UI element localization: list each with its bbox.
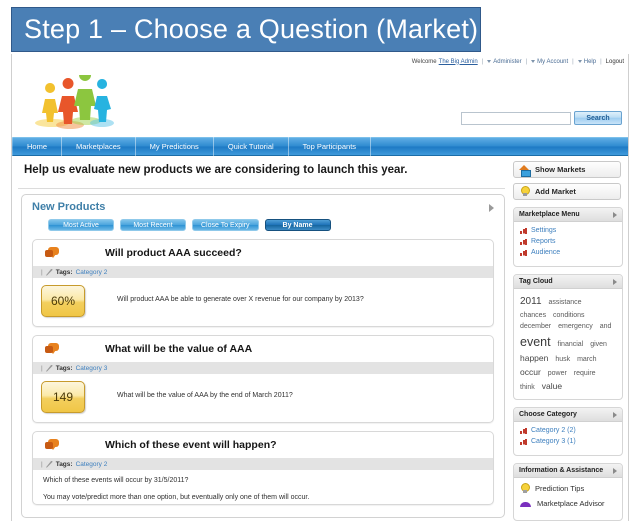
chevron-right-icon: [613, 212, 617, 218]
main-navigation: Home Marketplaces My Predictions Quick T…: [12, 137, 629, 156]
bars-icon: [520, 439, 527, 445]
question-tags-bar: | Tags: Category 2: [33, 266, 493, 278]
chevron-down-icon: [531, 60, 535, 63]
screenshot-root: Step 1 – Choose a Question (Market) Welc…: [0, 0, 640, 521]
new-products-panel: New Products Most Active Most Recent Clo…: [21, 194, 505, 518]
choose-category-header[interactable]: Choose Category: [514, 408, 622, 422]
tag-cloud-item[interactable]: 2011: [520, 294, 542, 310]
question-title: Will product AAA succeed?: [105, 247, 242, 259]
question-description: What will be the value of AAA by the end…: [117, 391, 293, 401]
sidebar-item-prediction-tips-label: Prediction Tips: [535, 484, 584, 493]
divider: |: [482, 59, 484, 65]
choose-category-body: Category 2 (2) Category 3 (1): [514, 422, 622, 455]
tag-cloud-item[interactable]: happen: [520, 352, 548, 366]
tag-icon: [46, 461, 53, 468]
chevron-down-icon: [578, 60, 582, 63]
tag-cloud-item[interactable]: chances: [520, 310, 546, 321]
information-assistance-widget: Information & Assistance Prediction Tips…: [513, 463, 623, 521]
chevron-down-icon: [487, 60, 491, 63]
prediction-badge: 60%: [41, 285, 85, 317]
bars-icon: [520, 239, 527, 245]
welcome-label: Welcome: [412, 59, 437, 65]
filter-tab-by-name[interactable]: By Name: [265, 219, 331, 231]
marketplace-menu-header[interactable]: Marketplace Menu: [514, 208, 622, 222]
marketplace-menu-title: Marketplace Menu: [519, 211, 580, 218]
show-markets-button[interactable]: Show Markets: [513, 161, 621, 178]
category-item-2-label: Category 2 (2): [531, 427, 576, 434]
question-description: Will product AAA be able to generate ove…: [117, 295, 364, 305]
bulb-icon: [519, 186, 530, 197]
choose-category-title: Choose Category: [519, 411, 577, 418]
tag-separator: |: [41, 365, 43, 372]
tag-separator: |: [41, 461, 43, 468]
tag-cloud-item[interactable]: emergency: [558, 321, 593, 332]
tag-icon: [46, 365, 53, 372]
sidebar-item-audience-label: Audience: [531, 249, 560, 256]
category-item-2[interactable]: Category 2 (2): [520, 427, 617, 434]
tags-label: Tags:: [56, 365, 73, 372]
page-headline: Help us evaluate new products we are con…: [24, 164, 505, 176]
information-assistance-body: Prediction Tips Marketplace Advisor: [514, 478, 622, 520]
sidebar-item-reports[interactable]: Reports: [520, 238, 617, 245]
question-card-body: 149 What will be the value of AAA by the…: [33, 374, 493, 422]
tag-cloud-header[interactable]: Tag Cloud: [514, 275, 622, 289]
people-icon: [520, 500, 531, 507]
tag-cloud-widget: Tag Cloud 2011 assistance chances condit…: [513, 274, 623, 400]
menu-my-account-label: My Account: [537, 59, 568, 65]
panel-title: New Products: [22, 195, 504, 213]
question-title: Which of these event will happen?: [105, 439, 277, 451]
tag-separator: |: [41, 269, 43, 276]
tag-cloud-item[interactable]: and: [600, 321, 612, 332]
divider: |: [572, 59, 574, 65]
tag-cloud-body: 2011 assistance chances conditions decem…: [514, 289, 622, 399]
tag-cloud-item[interactable]: given: [590, 339, 607, 350]
question-description-line-1: Which of these events will occur by 31/5…: [33, 470, 493, 487]
show-markets-label: Show Markets: [535, 165, 585, 174]
user-name-link[interactable]: The Big Admin: [439, 59, 478, 65]
question-card-header: What will be the value of AAA: [33, 336, 493, 362]
speech-bubble-icon: [45, 343, 60, 355]
prediction-badge: 149: [41, 381, 85, 413]
bulb-icon: [520, 483, 529, 493]
speech-bubble-icon: [45, 439, 60, 451]
question-card-list: Will product AAA succeed? | Tags: Catego…: [22, 231, 504, 505]
category-item-3-label: Category 3 (1): [531, 438, 576, 445]
sidebar-item-audience[interactable]: Audience: [520, 249, 617, 256]
tag-cloud-item[interactable]: financial: [558, 339, 584, 350]
bars-icon: [520, 228, 527, 234]
menu-administer[interactable]: Administer: [487, 59, 521, 65]
main-column: Help us evaluate new products we are con…: [18, 156, 505, 521]
tag-cloud-title: Tag Cloud: [519, 278, 553, 285]
filter-tab-close-to-expiry[interactable]: Close To Expiry: [192, 219, 259, 231]
nav-item-quick-tutorial[interactable]: Quick Tutorial: [214, 137, 289, 156]
question-card[interactable]: Which of these event will happen? | Tags…: [32, 431, 494, 505]
tag-cloud-item[interactable]: power: [548, 368, 567, 379]
tag-cloud-item[interactable]: assistance: [548, 297, 581, 308]
tag-cloud-item[interactable]: march: [577, 354, 596, 365]
information-assistance-title: Information & Assistance: [519, 467, 603, 474]
choose-category-widget: Choose Category Category 2 (2) Category …: [513, 407, 623, 456]
nav-item-top-participants[interactable]: Top Participants: [289, 137, 371, 156]
sidebar-item-prediction-tips[interactable]: Prediction Tips: [520, 483, 617, 493]
question-card[interactable]: What will be the value of AAA | Tags: Ca…: [32, 335, 494, 423]
question-card[interactable]: Will product AAA succeed? | Tags: Catego…: [32, 239, 494, 327]
menu-help[interactable]: Help: [578, 59, 596, 65]
sidebar: Show Markets Add Market Marketplace Menu: [509, 156, 627, 521]
chevron-right-icon: [613, 468, 617, 474]
filter-tab-most-recent[interactable]: Most Recent: [120, 219, 186, 231]
nav-item-home[interactable]: Home: [12, 137, 62, 156]
nav-item-my-predictions[interactable]: My Predictions: [136, 137, 214, 156]
sidebar-item-marketplace-advisor[interactable]: Marketplace Advisor: [520, 499, 617, 508]
question-description-line-2: You may vote/predict more than one optio…: [33, 487, 493, 504]
divider: [18, 188, 505, 189]
content-area: Help us evaluate new products we are con…: [12, 156, 629, 521]
search-input[interactable]: [461, 112, 571, 125]
tag-cloud-item[interactable]: event: [520, 332, 551, 352]
speech-bubble-icon: [45, 247, 60, 259]
tag-cloud-item[interactable]: think: [520, 382, 535, 393]
marketplace-menu-body: Settings Reports Audience: [514, 222, 622, 266]
panel-collapse-icon[interactable]: [489, 204, 494, 212]
slide-title: Step 1 – Choose a Question (Market): [12, 14, 478, 45]
tag-cloud-item[interactable]: conditions: [553, 310, 585, 321]
chevron-right-icon: [613, 412, 617, 418]
slide-title-banner: Step 1 – Choose a Question (Market): [11, 7, 481, 52]
search-area: Search: [461, 111, 622, 125]
logout-link[interactable]: Logout: [606, 59, 624, 65]
tag-cloud-item[interactable]: occur: [520, 366, 541, 380]
tag-cloud-item[interactable]: require: [574, 368, 596, 379]
add-market-button[interactable]: Add Market: [513, 183, 621, 200]
tag-cloud-item[interactable]: december: [520, 321, 551, 332]
question-card-header: Which of these event will happen?: [33, 432, 493, 458]
filter-tab-bar: Most Active Most Recent Close To Expiry …: [22, 213, 504, 231]
question-card-header: Will product AAA succeed?: [33, 240, 493, 266]
sidebar-item-settings-label: Settings: [531, 227, 556, 234]
menu-my-account[interactable]: My Account: [531, 59, 568, 65]
information-assistance-header[interactable]: Information & Assistance: [514, 464, 622, 478]
nav-item-marketplaces[interactable]: Marketplaces: [62, 137, 136, 156]
tag-icon: [46, 269, 53, 276]
browser-page: Welcome The Big Admin | Administer | My …: [11, 54, 629, 521]
search-button[interactable]: Search: [574, 111, 622, 125]
tag-cloud-item[interactable]: value: [542, 380, 562, 394]
tags-label: Tags:: [56, 269, 73, 276]
bars-icon: [520, 428, 527, 434]
divider: |: [526, 59, 528, 65]
filter-tab-most-active[interactable]: Most Active: [48, 219, 114, 231]
utility-bar: Welcome The Big Admin | Administer | My …: [12, 54, 629, 69]
tag-cloud-item[interactable]: husk: [555, 354, 570, 365]
question-tags-bar: | Tags: Category 3: [33, 362, 493, 374]
category-item-3[interactable]: Category 3 (1): [520, 438, 617, 445]
tags-label: Tags:: [56, 461, 73, 468]
site-logo: [22, 75, 120, 131]
menu-administer-label: Administer: [493, 59, 521, 65]
sidebar-item-reports-label: Reports: [531, 238, 556, 245]
sidebar-item-settings[interactable]: Settings: [520, 227, 617, 234]
tag-value-link[interactable]: Category 3: [76, 365, 108, 372]
question-title: What will be the value of AAA: [105, 343, 252, 355]
chevron-right-icon: [613, 279, 617, 285]
sidebar-item-marketplace-advisor-label: Marketplace Advisor: [537, 499, 605, 508]
question-card-body: 60% Will product AAA be able to generate…: [33, 278, 493, 326]
menu-help-label: Help: [584, 59, 596, 65]
bars-icon: [520, 250, 527, 256]
marketplace-menu-widget: Marketplace Menu Settings Reports: [513, 207, 623, 267]
home-icon: [519, 165, 530, 175]
divider: |: [600, 59, 602, 65]
question-tags-bar: | Tags: Category 2: [33, 458, 493, 470]
masthead: Search: [12, 69, 629, 137]
tag-value-link[interactable]: Category 2: [76, 269, 108, 276]
tag-value-link[interactable]: Category 2: [76, 461, 108, 468]
add-market-label: Add Market: [535, 187, 576, 196]
